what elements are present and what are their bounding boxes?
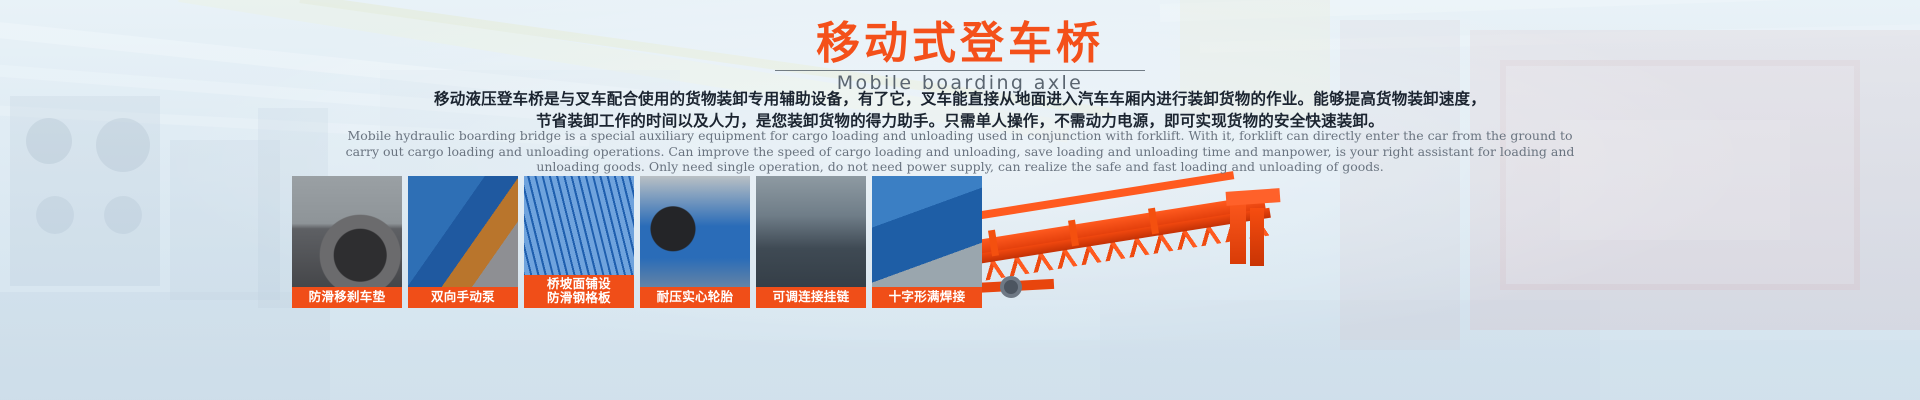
feature-caption: 耐压实心轮胎 xyxy=(640,287,750,308)
feature-thumbnail[interactable]: 双向手动泵 xyxy=(408,176,518,308)
ramp-wheel xyxy=(1000,276,1022,298)
feature-caption-line-1: 桥坡面铺设 xyxy=(526,277,632,291)
feature-caption: 十字形满焊接 xyxy=(872,287,982,308)
page-title: 移动式登车桥 xyxy=(0,20,1920,68)
feature-thumbnail-strip: 防滑移刹车垫 双向手动泵 桥坡面铺设 防滑钢格板 耐压实心轮胎 可调连接挂链 十… xyxy=(292,176,982,308)
feature-caption: 可调连接挂链 xyxy=(756,287,866,308)
feature-thumbnail[interactable]: 十字形满焊接 xyxy=(872,176,982,308)
ramp-platform-column xyxy=(1250,208,1264,266)
feature-caption: 双向手动泵 xyxy=(408,287,518,308)
feature-caption: 桥坡面铺设 防滑钢格板 xyxy=(524,275,634,308)
feature-caption: 防滑移刹车垫 xyxy=(292,287,402,308)
feature-thumbnail[interactable]: 耐压实心轮胎 xyxy=(640,176,750,308)
feature-thumbnail[interactable]: 桥坡面铺设 防滑钢格板 xyxy=(524,176,634,308)
feature-thumbnail[interactable]: 防滑移刹车垫 xyxy=(292,176,402,308)
chinese-description: 移动液压登车桥是与叉车配合使用的货物装卸专用辅助设备，有了它，叉车能直接从地面进… xyxy=(0,88,1920,132)
chinese-description-line-1: 移动液压登车桥是与叉车配合使用的货物装卸专用辅助设备，有了它，叉车能直接从地面进… xyxy=(0,88,1920,110)
feature-caption-line-2: 防滑钢格板 xyxy=(526,291,632,305)
dock-ramp-illustration xyxy=(930,200,1350,320)
ramp-lip-plate xyxy=(1226,188,1281,206)
product-banner: 移动式登车桥 Mobile boarding axle 移动液压登车桥是与叉车配… xyxy=(0,0,1920,400)
feature-thumbnail[interactable]: 可调连接挂链 xyxy=(756,176,866,308)
subtitle-divider xyxy=(775,70,1145,71)
english-description: Mobile hydraulic boarding bridge is a sp… xyxy=(340,128,1580,175)
headline-block: 移动式登车桥 Mobile boarding axle xyxy=(0,20,1920,95)
